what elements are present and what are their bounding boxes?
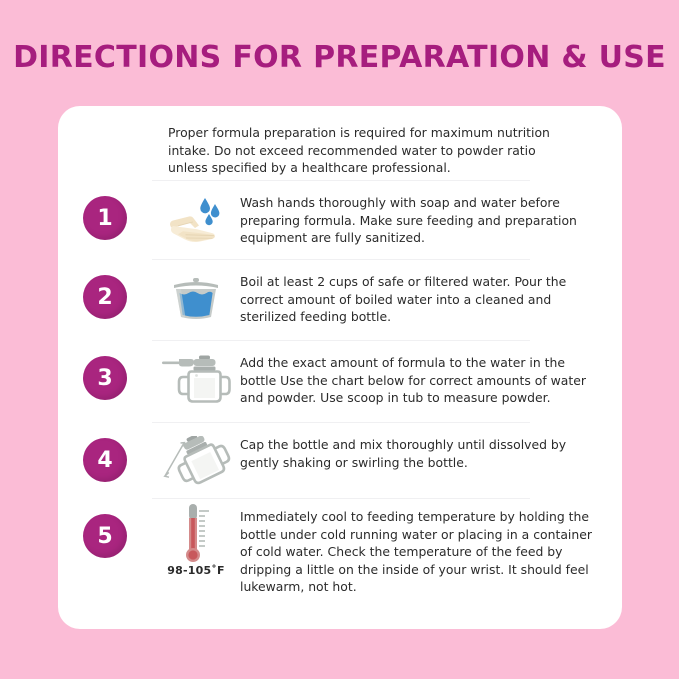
washing-hands-icon <box>160 192 232 248</box>
step-item: 5 <box>58 498 622 608</box>
step-divider <box>152 498 530 499</box>
scoop-shape <box>162 359 194 367</box>
step-badge-container: 3 <box>58 340 152 400</box>
step-number-badge: 1 <box>83 196 127 240</box>
step-item: 2 Boil at least 2 cups of safe or filter… <box>58 259 622 340</box>
step-text: Immediately cool to feeding temperature … <box>240 498 622 596</box>
step-item: 1 <box>58 180 622 259</box>
step-item: 3 <box>58 340 622 422</box>
step-divider <box>152 422 530 423</box>
step-icon-container <box>152 422 240 490</box>
step-number-badge: 3 <box>83 356 127 400</box>
step-number-badge: 2 <box>83 275 127 319</box>
thermometer-icon <box>160 506 232 562</box>
intro-paragraph: Proper formula preparation is required f… <box>168 124 558 177</box>
step-icon-container: 98-105˚F <box>152 498 240 577</box>
step-icon-container <box>152 259 240 327</box>
step-item: 4 <box>58 422 622 498</box>
shake-arrow-icon <box>165 443 185 478</box>
step-badge-container: 5 <box>58 498 152 558</box>
step-badge-container: 2 <box>58 259 152 319</box>
step-divider <box>152 180 530 181</box>
step-icon-container <box>152 180 240 248</box>
temperature-label: 98-105˚F <box>167 564 224 577</box>
step-number-badge: 4 <box>83 438 127 482</box>
step-divider <box>152 340 530 341</box>
step-badge-container: 4 <box>58 422 152 482</box>
bottle-with-scoop-icon <box>160 352 232 408</box>
step-text: Wash hands thoroughly with soap and wate… <box>240 180 622 247</box>
bottle-shape <box>168 436 231 488</box>
directions-poster: DIRECTIONS FOR PREPARATION & USE Proper … <box>0 0 679 679</box>
step-badge-container: 1 <box>58 180 152 240</box>
step-number-badge: 5 <box>83 514 127 558</box>
step-text: Cap the bottle and mix thoroughly until … <box>240 422 622 471</box>
instructions-card: Proper formula preparation is required f… <box>58 106 622 629</box>
shaking-bottle-icon <box>160 434 232 490</box>
step-icon-container <box>152 340 240 408</box>
page-title: DIRECTIONS FOR PREPARATION & USE <box>0 41 679 75</box>
step-text: Add the exact amount of formula to the w… <box>240 340 622 407</box>
step-text: Boil at least 2 cups of safe or filtered… <box>240 259 622 326</box>
step-divider <box>152 259 530 260</box>
steps-list: 1 <box>58 180 622 608</box>
boiling-pot-icon <box>160 271 232 327</box>
